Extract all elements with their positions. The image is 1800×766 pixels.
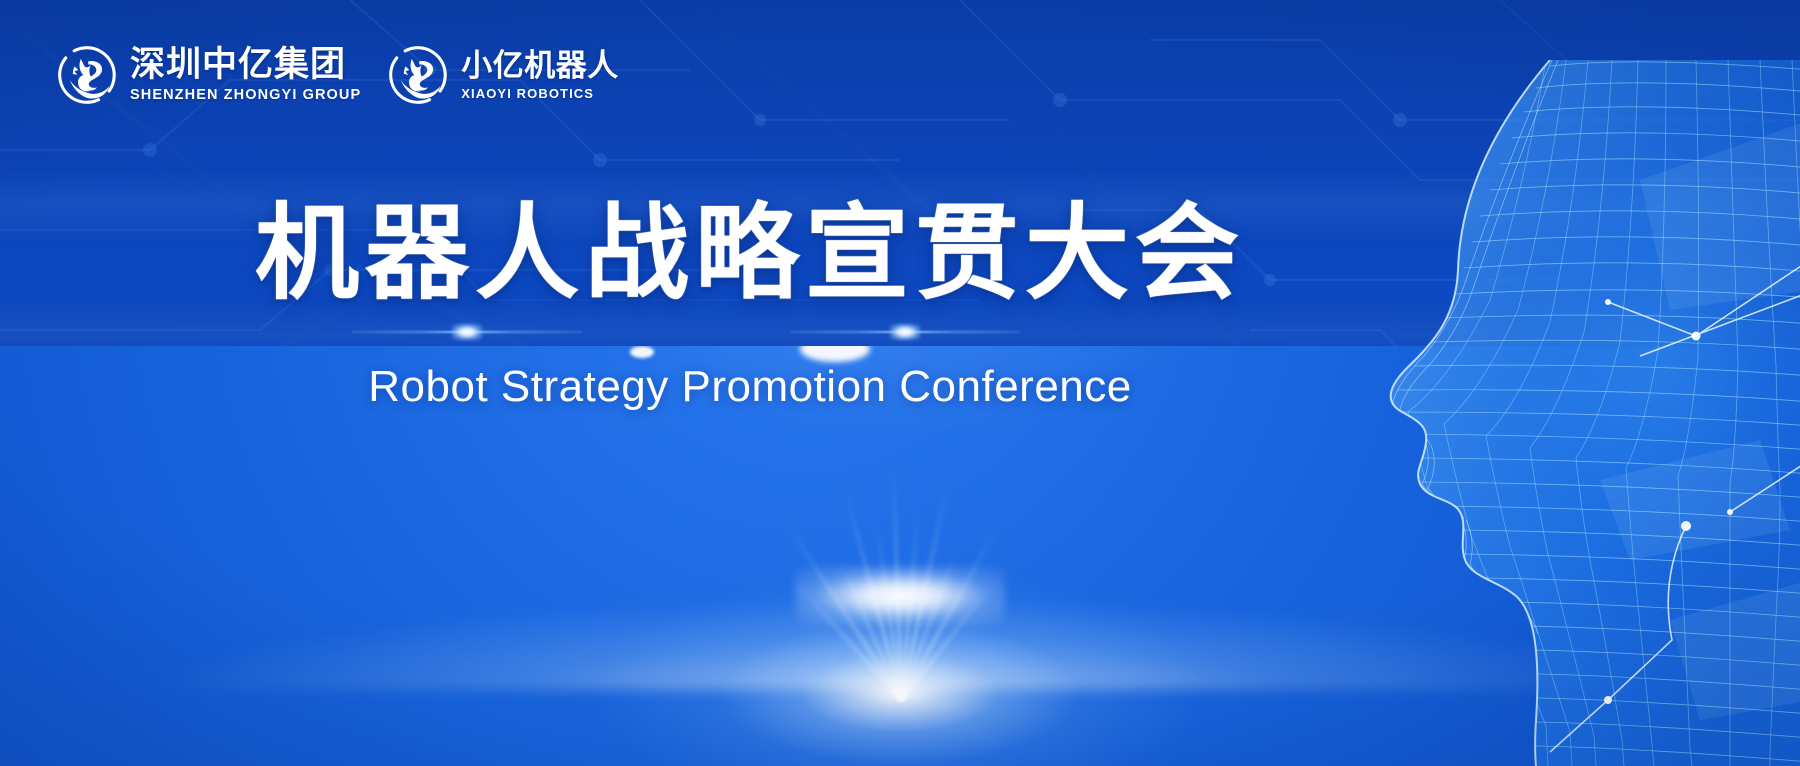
logo-xiaoyi-robotics[interactable]: 小亿机器人 XIAOYI ROBOTICS bbox=[387, 44, 619, 106]
page-subtitle: Robot Strategy Promotion Conference bbox=[0, 362, 1500, 412]
logo-shenzhen-zhongyi-group[interactable]: 深圳中亿集团 SHENZHEN ZHONGYI GROUP bbox=[56, 44, 361, 106]
logo-name-en: XIAOYI ROBOTICS bbox=[461, 87, 619, 100]
logo-name-cn: 小亿机器人 bbox=[461, 50, 619, 81]
logo-name-cn: 深圳中亿集团 bbox=[130, 47, 361, 82]
logo-name-en: SHENZHEN ZHONGYI GROUP bbox=[130, 88, 361, 103]
logo-bar: 深圳中亿集团 SHENZHEN ZHONGYI GROUP 小亿机器人 XIAO… bbox=[56, 44, 619, 106]
zhongyi-circle-logo-icon bbox=[56, 44, 118, 106]
light-flare-icon bbox=[352, 330, 582, 334]
title-block: 机器人战略宣贯大会 Robot Strategy Promotion Confe… bbox=[0, 196, 1500, 412]
xiaoyi-circle-logo-icon bbox=[387, 44, 449, 106]
light-flare-icon bbox=[790, 330, 1020, 334]
conference-banner: 深圳中亿集团 SHENZHEN ZHONGYI GROUP 小亿机器人 XIAO… bbox=[0, 0, 1800, 766]
title-divider bbox=[0, 318, 1500, 352]
page-title: 机器人战略宣贯大会 bbox=[0, 196, 1500, 310]
